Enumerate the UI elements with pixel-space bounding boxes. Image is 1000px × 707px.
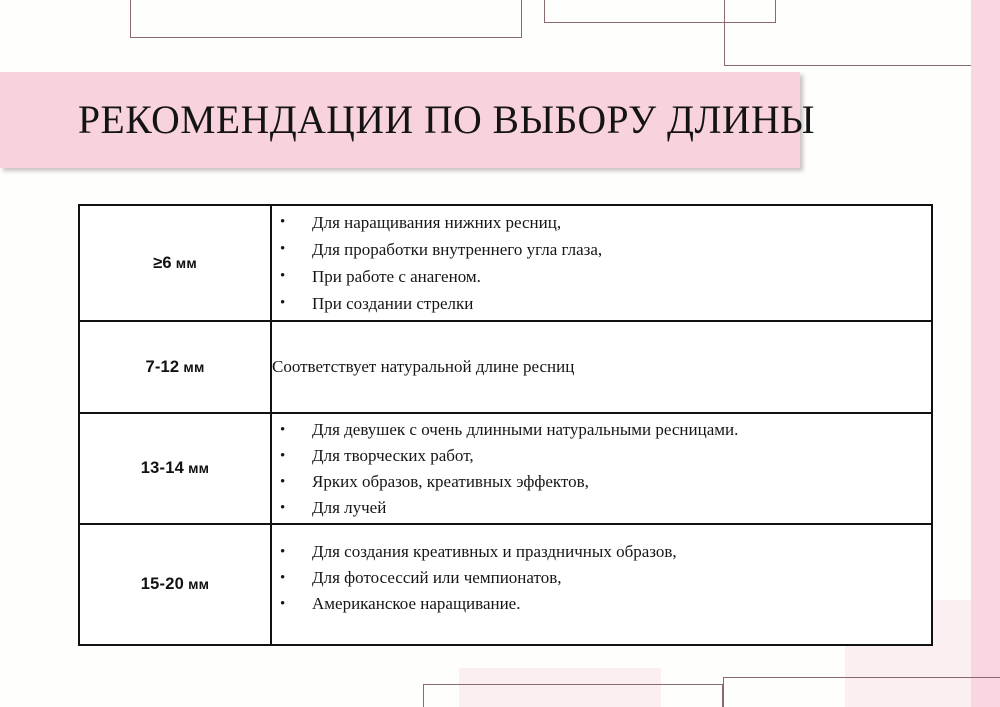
table-row: 13-14 мм Для девушек с очень длинными на…: [79, 413, 932, 524]
length-value: 15-20: [141, 575, 184, 593]
list-item: Для лучей: [272, 495, 931, 521]
length-unit: мм: [176, 255, 197, 271]
description-cell: Для наращивания нижних ресниц, Для прора…: [271, 205, 932, 321]
length-unit: мм: [188, 460, 209, 476]
length-cell: ≥6 мм: [79, 205, 271, 321]
list-item: Для создания креативных и праздничных об…: [272, 539, 931, 565]
slide-canvas: РЕКОМЕНДАЦИИ ПО ВЫБОРУ ДЛИНЫ ≥6 мм Для н…: [0, 0, 1000, 707]
list-item: Американское наращивание.: [272, 591, 931, 617]
description-cell: Соответствует натуральной длине ресниц: [271, 321, 932, 413]
decor-rect-top-left: [130, 0, 522, 38]
decor-rect-bottom-right: [723, 677, 1000, 707]
list-item: Для творческих работ,: [272, 443, 931, 469]
length-cell: 15-20 мм: [79, 524, 271, 645]
list-item: При работе с анагеном.: [272, 263, 931, 290]
list-item: Ярких образов, креативных эффектов,: [272, 469, 931, 495]
edge-band-right: [971, 0, 1000, 707]
page-title: РЕКОМЕНДАЦИИ ПО ВЫБОРУ ДЛИНЫ: [78, 72, 739, 168]
list-item: Для проработки внутреннего угла глаза,: [272, 236, 931, 263]
list-item: Для наращивания нижних ресниц,: [272, 209, 931, 236]
list-item: Для фотосессий или чемпионатов,: [272, 565, 931, 591]
length-unit: мм: [183, 359, 204, 375]
description-cell: Для девушек с очень длинными натуральным…: [271, 413, 932, 524]
decor-rect-bottom-left: [423, 684, 723, 707]
decor-rect-top-right: [724, 0, 982, 66]
table-row: 7-12 мм Соответствует натуральной длине …: [79, 321, 932, 413]
table-row: ≥6 мм Для наращивания нижних ресниц, Для…: [79, 205, 932, 321]
length-recommendation-table: ≥6 мм Для наращивания нижних ресниц, Для…: [78, 204, 933, 646]
bullet-list: Для создания креативных и праздничных об…: [272, 539, 931, 617]
length-cell: 13-14 мм: [79, 413, 271, 524]
length-value: ≥6: [153, 254, 172, 272]
length-cell: 7-12 мм: [79, 321, 271, 413]
description-cell: Для создания креативных и праздничных об…: [271, 524, 932, 645]
length-unit: мм: [188, 576, 209, 592]
description-text: Соответствует натуральной длине ресниц: [272, 357, 574, 376]
bullet-list: Для наращивания нижних ресниц, Для прора…: [272, 209, 931, 317]
list-item: Для девушек с очень длинными натуральным…: [272, 417, 931, 443]
length-value: 7-12: [145, 358, 179, 376]
list-item: При создании стрелки: [272, 290, 931, 317]
table-row: 15-20 мм Для создания креативных и празд…: [79, 524, 932, 645]
bullet-list: Для девушек с очень длинными натуральным…: [272, 417, 931, 521]
length-value: 13-14: [141, 459, 184, 477]
